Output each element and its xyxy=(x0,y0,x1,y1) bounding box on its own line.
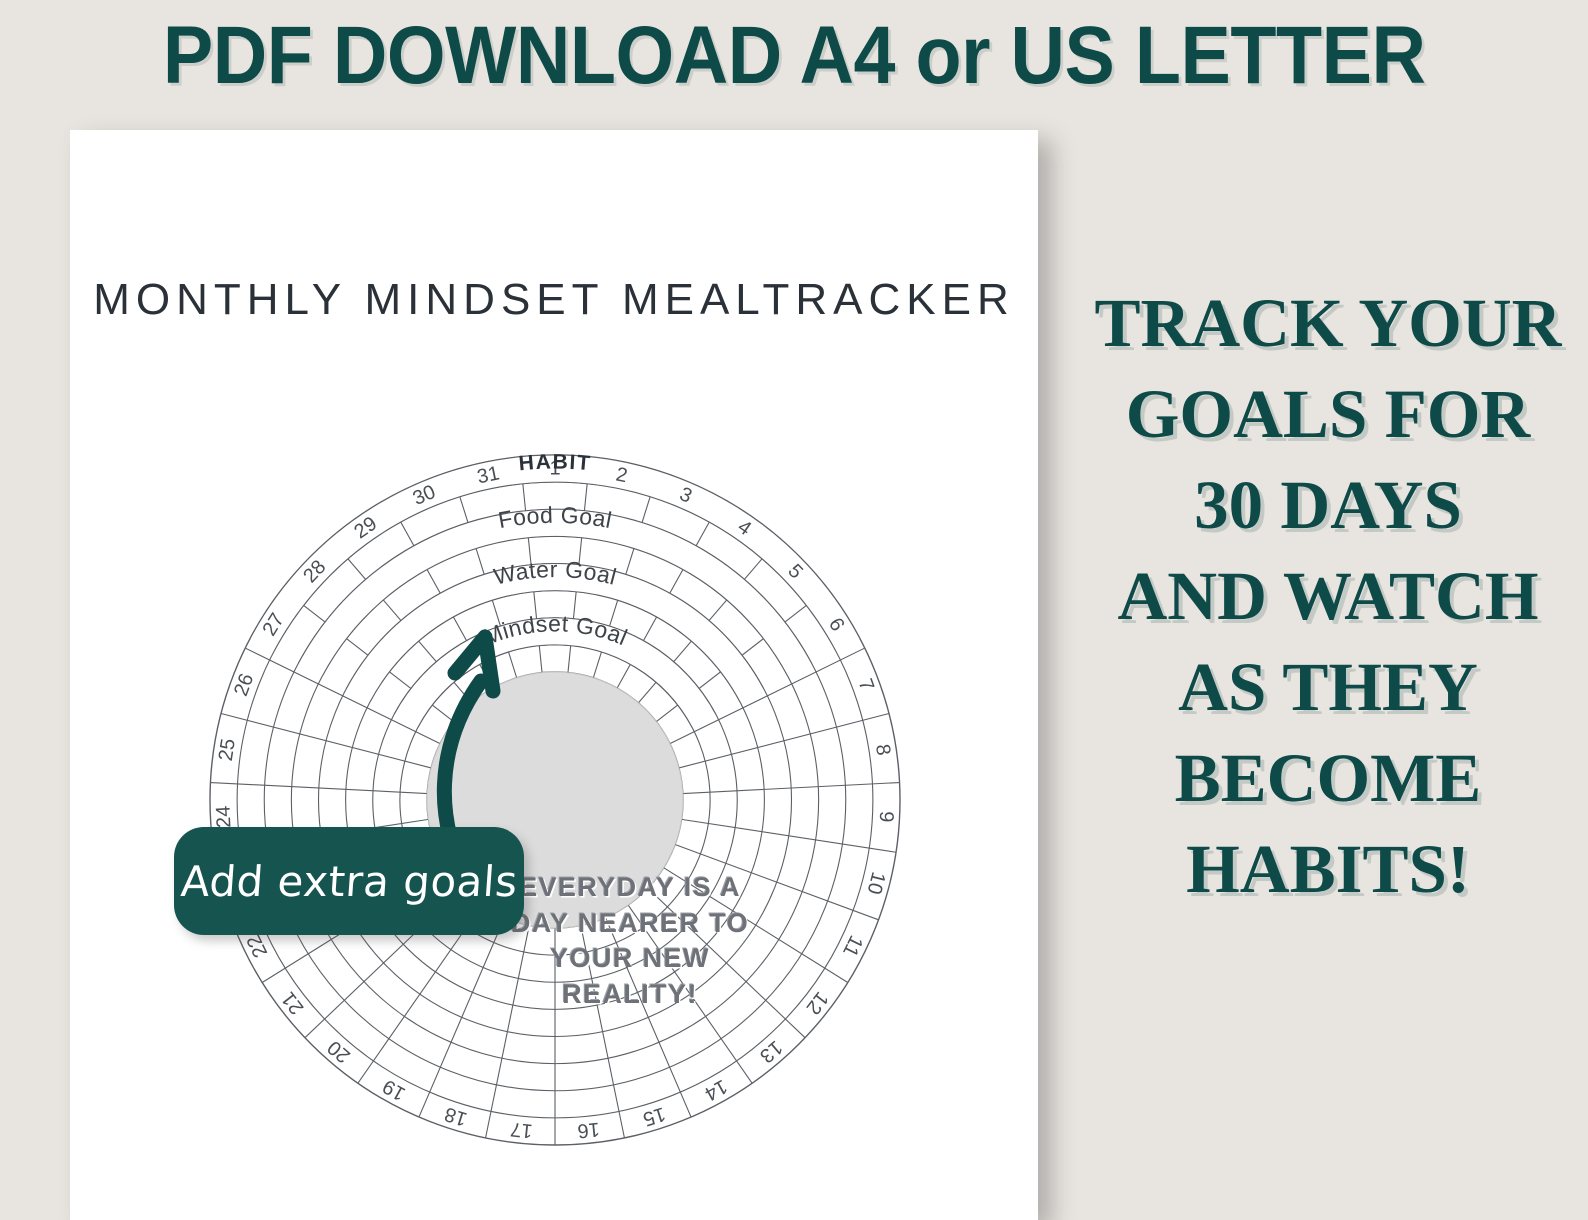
wheel-sector-divider-18 xyxy=(419,918,505,1117)
wheel-day-number-14: 14 xyxy=(701,1075,731,1105)
callout-label: Add extra goals xyxy=(179,857,519,906)
promo-text-block: TRACK YOURGOALS FOR30 DAYSAND WATCHAS TH… xyxy=(1078,278,1578,916)
promo-line-4: AS THEY xyxy=(1078,642,1578,733)
wheel-sector-divider-12 xyxy=(648,888,805,1038)
wheel-day-number-24: 24 xyxy=(212,805,235,828)
wheel-day-number-31: 31 xyxy=(475,462,501,488)
wheel-sector-divider-14 xyxy=(605,918,691,1117)
paper-sheet: MONTHLY MINDSET MEALTRACKER 123456789101… xyxy=(70,130,1038,1220)
wheel-day-number-19: 19 xyxy=(379,1075,409,1105)
promo-line-6: HABITS! xyxy=(1078,824,1578,915)
wheel-day-number-16: 16 xyxy=(576,1118,600,1142)
wheel-sector-divider-7 xyxy=(679,714,889,768)
wheel-day-number-18: 18 xyxy=(442,1102,470,1130)
promo-line-0: TRACK YOUR xyxy=(1078,278,1578,369)
wheel-day-number-26: 26 xyxy=(230,671,258,700)
wheel-day-number-10: 10 xyxy=(862,870,889,897)
wheel-day-number-8: 8 xyxy=(871,743,894,757)
wheel-sector-divider-17 xyxy=(486,925,530,1138)
wheel-day-number-7: 7 xyxy=(854,676,878,694)
wheel-day-number-9: 9 xyxy=(875,811,898,823)
promo-line-3: AND WATCH xyxy=(1078,551,1578,642)
wheel-day-number-21: 21 xyxy=(277,987,308,1018)
promo-line-2: 30 DAYS xyxy=(1078,460,1578,551)
wheel-sector-divider-25 xyxy=(221,714,431,768)
wheel-sector-divider-10 xyxy=(675,844,878,919)
wheel-sector-divider-11 xyxy=(664,868,848,983)
wheel-ring-label-0: HABIT xyxy=(518,450,593,475)
wheel-day-number-13: 13 xyxy=(755,1036,786,1067)
wheel-day-number-15: 15 xyxy=(640,1102,668,1130)
top-banner: PDF DOWNLOAD A4 or US LETTER xyxy=(0,0,1588,112)
wheel-day-number-12: 12 xyxy=(802,987,833,1018)
banner-headline: PDF DOWNLOAD A4 or US LETTER xyxy=(163,15,1426,97)
wheel-sector-divider-15 xyxy=(581,925,625,1138)
add-extra-goals-callout[interactable]: Add extra goals xyxy=(174,827,524,935)
promo-line-5: BECOME xyxy=(1078,733,1578,824)
wheel-day-number-17: 17 xyxy=(509,1118,533,1142)
wheel-day-number-25: 25 xyxy=(215,737,240,762)
wheel-sector-divider-9 xyxy=(682,819,896,852)
promo-line-1: GOALS FOR xyxy=(1078,369,1578,460)
wheel-day-number-20: 20 xyxy=(324,1036,355,1067)
